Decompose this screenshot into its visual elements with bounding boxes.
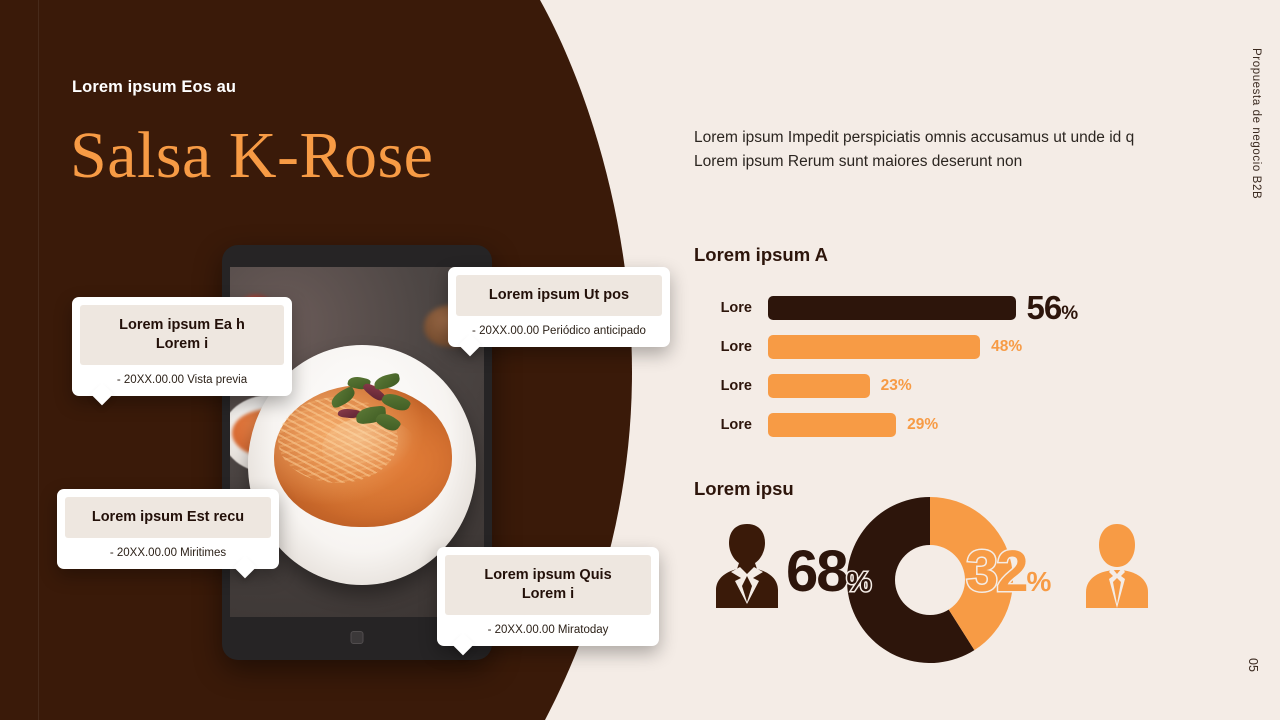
bar-category-label: Lore <box>694 339 768 355</box>
slide-eyebrow: Lorem ipsum Eos au <box>72 78 236 97</box>
bar-fill <box>768 413 896 437</box>
male-silhouette-icon <box>1086 520 1148 608</box>
info-card-meta: - 20XX.00.00 Miritimes <box>65 538 271 562</box>
info-card-meta: - 20XX.00.00 Miratoday <box>445 615 651 639</box>
bars-section-heading: Lorem ipsum A <box>694 244 828 266</box>
intro-line-1: Lorem ipsum Impedit perspiciatis omnis a… <box>694 126 1174 150</box>
bar-chart: Lore56%Lore48%Lore23%Lore29% <box>694 288 1164 444</box>
bar-track <box>768 413 896 437</box>
bar-value-label: 48% <box>991 338 1022 356</box>
info-card-meta: - 20XX.00.00 Periódico anticipado <box>456 316 662 340</box>
intro-paragraph: Lorem ipsum Impedit perspiciatis omnis a… <box>694 126 1174 174</box>
info-card[interactable]: Lorem ipsum Est recu - 20XX.00.00 Miriti… <box>57 489 279 569</box>
info-card-title: Lorem ipsum QuisLorem i <box>445 555 651 615</box>
donut-value-left: 68% <box>786 538 870 605</box>
bar-track <box>768 335 980 359</box>
bar-fill <box>768 296 1016 320</box>
tablet-home-button-icon <box>351 631 364 644</box>
page-number: 05 <box>1246 658 1260 672</box>
slide-title: Salsa K-Rose <box>70 120 433 193</box>
info-card-title: Lorem ipsum Est recu <box>65 497 271 538</box>
bar-category-label: Lore <box>694 300 768 316</box>
leaf <box>373 372 401 390</box>
bar-value-label: 23% <box>881 377 912 395</box>
bar-track <box>768 296 1016 320</box>
donut-value-right: 32% <box>966 538 1050 605</box>
bar-category-label: Lore <box>694 417 768 433</box>
leaf <box>328 386 357 410</box>
info-card[interactable]: Lorem ipsum Ut pos - 20XX.00.00 Periódic… <box>448 267 670 347</box>
female-silhouette-icon <box>716 520 778 608</box>
photo-microgreens <box>322 373 418 439</box>
slide-canvas: Lorem ipsum Eos au Salsa K-Rose <box>0 0 1280 720</box>
bar-row: Lore48% <box>694 327 1164 366</box>
info-card-title: Lorem ipsum Ut pos <box>456 275 662 316</box>
bar-category-label: Lore <box>694 378 768 394</box>
info-card[interactable]: Lorem ipsum Ea hLorem i - 20XX.00.00 Vis… <box>72 297 292 396</box>
bar-row: Lore56% <box>694 288 1164 327</box>
bar-row: Lore29% <box>694 405 1164 444</box>
bar-fill <box>768 335 980 359</box>
bar-row: Lore23% <box>694 366 1164 405</box>
vertical-rail-text: Propuesta de negocio B2B <box>1250 48 1262 199</box>
donut-chart: 68% 32% <box>694 490 1164 670</box>
bar-value-label: 56% <box>1027 289 1078 327</box>
info-card[interactable]: Lorem ipsum QuisLorem i - 20XX.00.00 Mir… <box>437 547 659 646</box>
bar-value-label: 29% <box>907 416 938 434</box>
left-edge-divider <box>38 0 39 720</box>
bar-fill <box>768 374 870 398</box>
info-card-meta: - 20XX.00.00 Vista previa <box>80 365 284 389</box>
bar-track <box>768 374 870 398</box>
info-card-title: Lorem ipsum Ea hLorem i <box>80 305 284 365</box>
intro-line-2: Lorem ipsum Rerum sunt maiores deserunt … <box>694 150 1174 174</box>
